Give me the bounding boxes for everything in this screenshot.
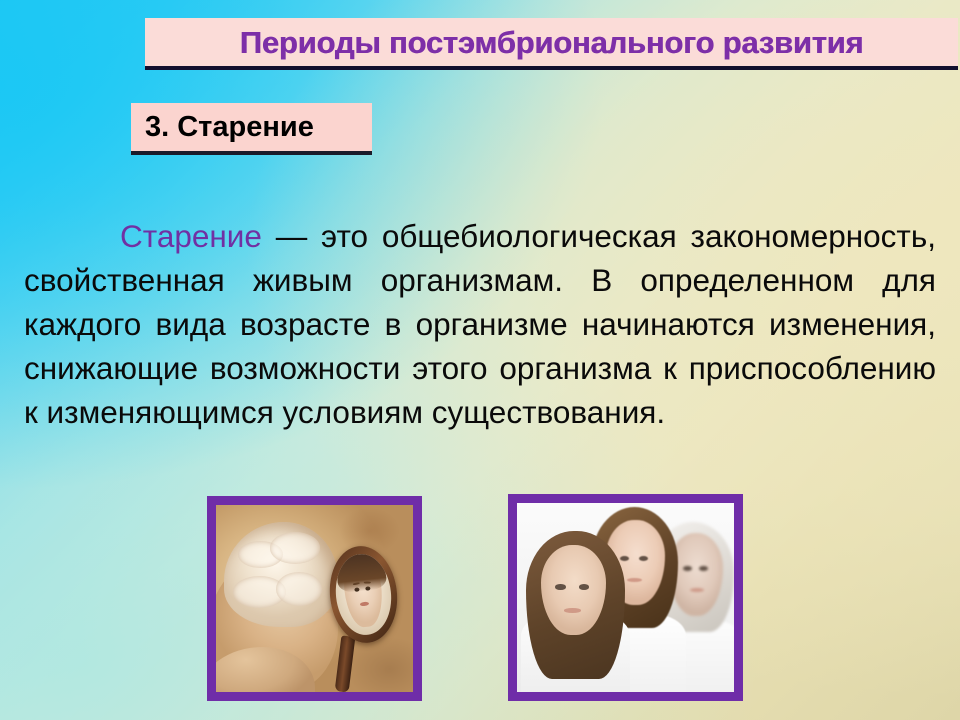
- mirror-photo-inner: [216, 505, 413, 692]
- reflection-lips: [360, 602, 369, 607]
- girl-eye-right: [579, 584, 589, 589]
- mother-lips: [627, 578, 642, 582]
- grandmother-eye-left: [683, 566, 692, 571]
- grandmother-lips: [690, 588, 704, 592]
- girl-eye-left: [555, 584, 565, 589]
- section-label-box: 3. Старение: [131, 103, 372, 155]
- slide-canvas: Периоды постэмбрионального развития 3. С…: [0, 0, 960, 720]
- page-title: Периоды постэмбрионального развития: [240, 27, 864, 58]
- body-paragraph: Старение — это общебиологическая законом…: [24, 214, 936, 434]
- mother-eye-left: [620, 556, 629, 561]
- paragraph-keyword: Старение: [120, 218, 262, 254]
- elderly-woman-with-mirror-photo: [207, 496, 422, 701]
- hair-wave-detail: [270, 532, 320, 563]
- hair-wave-detail: [276, 572, 322, 606]
- mirror-glass: [332, 551, 395, 638]
- slide-title-banner: Периоды постэмбрионального развития: [145, 18, 958, 70]
- grandmother-eye-right: [699, 566, 708, 571]
- girl-lips: [564, 608, 581, 613]
- generations-photo-inner: [517, 503, 734, 692]
- three-generations-women-photo: [508, 494, 743, 701]
- mother-eye-right: [639, 556, 648, 561]
- young-woman-reflection-hair: [335, 552, 387, 594]
- section-label: 3. Старение: [145, 113, 314, 142]
